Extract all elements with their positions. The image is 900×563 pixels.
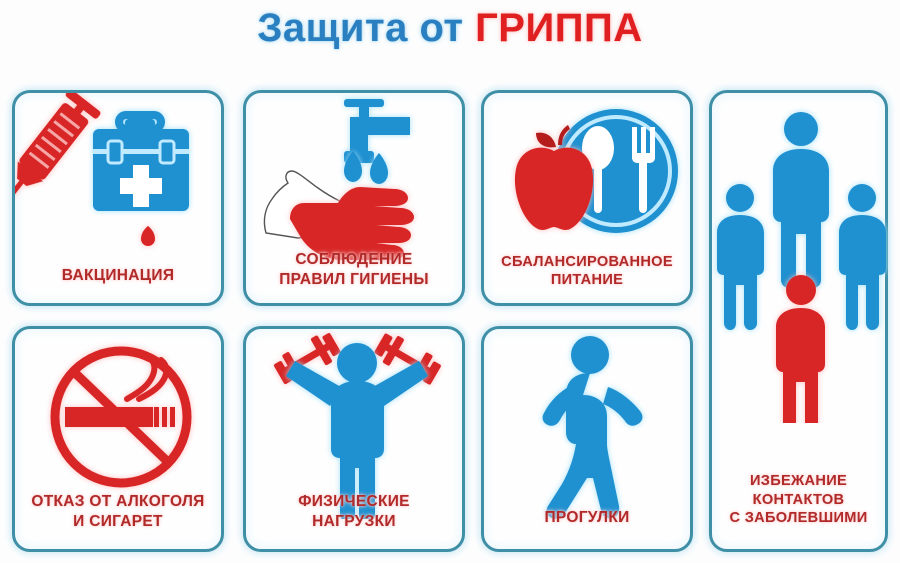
card-label-exercise: ФИЗИЧЕСКИЕ НАГРУЗКИ [246, 492, 462, 531]
vaccination-svg [15, 93, 227, 273]
syringe-icon [15, 93, 102, 222]
person-icon [839, 184, 886, 330]
card-no-alcohol[interactable]: ОТКАЗ ОТ АЛКОГОЛЯ И СИГАРЕТ [12, 326, 224, 552]
card-avoid-contact[interactable]: ИЗБЕЖАНИЕ КОНТАКТОВ С ЗАБОЛЕВШИМИ [709, 90, 888, 552]
card-label-vaccination: ВАКЦИНАЦИЯ [15, 266, 221, 285]
avoid-contact-illustration [712, 93, 885, 423]
exercise-illustration [246, 329, 462, 519]
flu-prevention-poster: Защита от ГРИППА [0, 0, 900, 563]
card-label-no-alcohol: ОТКАЗ ОТ АЛКОГОЛЯ И СИГАРЕТ [15, 492, 221, 531]
avoid-contact-svg [712, 93, 891, 423]
card-label-hygiene-line2: ПРАВИЛ ГИГИЕНЫ [246, 270, 462, 289]
hygiene-illustration [246, 93, 462, 263]
card-label-hygiene-line1: СОБЛЮДЕНИЕ [246, 250, 462, 269]
card-label-nutrition-line1: СБАЛАНСИРОВАННОЕ [484, 253, 690, 271]
card-label-no-alcohol-line1: ОТКАЗ ОТ АЛКОГОЛЯ [15, 492, 221, 511]
card-label-walks: ПРОГУЛКИ [484, 508, 690, 527]
card-hygiene[interactable]: СОБЛЮДЕНИЕ ПРАВИЛ ГИГИЕНЫ [243, 90, 465, 306]
card-exercise[interactable]: ФИЗИЧЕСКИЕ НАГРУЗКИ [243, 326, 465, 552]
medical-kit-icon [93, 115, 189, 211]
card-label-nutrition-line2: ПИТАНИЕ [484, 271, 690, 289]
sick-person-icon [776, 275, 825, 423]
title-blue-part: Защита от [257, 6, 463, 50]
no-alcohol-illustration [15, 329, 221, 514]
card-label-avoid-contact-line3: С ЗАБОЛЕВШИМИ [712, 509, 885, 527]
card-label-exercise-line2: НАГРУЗКИ [246, 512, 462, 531]
card-label-no-alcohol-line2: И СИГАРЕТ [15, 512, 221, 531]
vaccination-illustration [15, 93, 221, 273]
card-label-nutrition: СБАЛАНСИРОВАННОЕ ПИТАНИЕ [484, 253, 690, 289]
walking-person-icon [543, 336, 643, 519]
nutrition-svg [484, 93, 696, 263]
walks-svg [484, 329, 696, 519]
person-icon [773, 112, 829, 288]
hygiene-svg [246, 93, 468, 263]
card-nutrition[interactable]: СБАЛАНСИРОВАННОЕ ПИТАНИЕ [481, 90, 693, 306]
page-title: Защита от ГРИППА [0, 6, 900, 51]
walks-illustration [484, 329, 690, 519]
card-label-avoid-contact: ИЗБЕЖАНИЕ КОНТАКТОВ С ЗАБОЛЕВШИМИ [712, 472, 885, 527]
person-icon [717, 184, 764, 330]
title-red-part: ГРИППА [475, 6, 643, 50]
no-smoking-svg [15, 329, 227, 514]
card-vaccination[interactable]: ВАКЦИНАЦИЯ [12, 90, 224, 306]
no-smoking-icon [55, 351, 187, 483]
card-walks[interactable]: ПРОГУЛКИ [481, 326, 693, 552]
exercise-svg [246, 329, 468, 519]
card-label-avoid-contact-line2: КОНТАКТОВ [712, 491, 885, 509]
card-label-exercise-line1: ФИЗИЧЕСКИЕ [246, 492, 462, 511]
card-label-avoid-contact-line1: ИЗБЕЖАНИЕ [712, 472, 885, 490]
card-label-hygiene: СОБЛЮДЕНИЕ ПРАВИЛ ГИГИЕНЫ [246, 250, 462, 289]
blood-drop-icon [141, 226, 155, 246]
nutrition-illustration [484, 93, 690, 263]
